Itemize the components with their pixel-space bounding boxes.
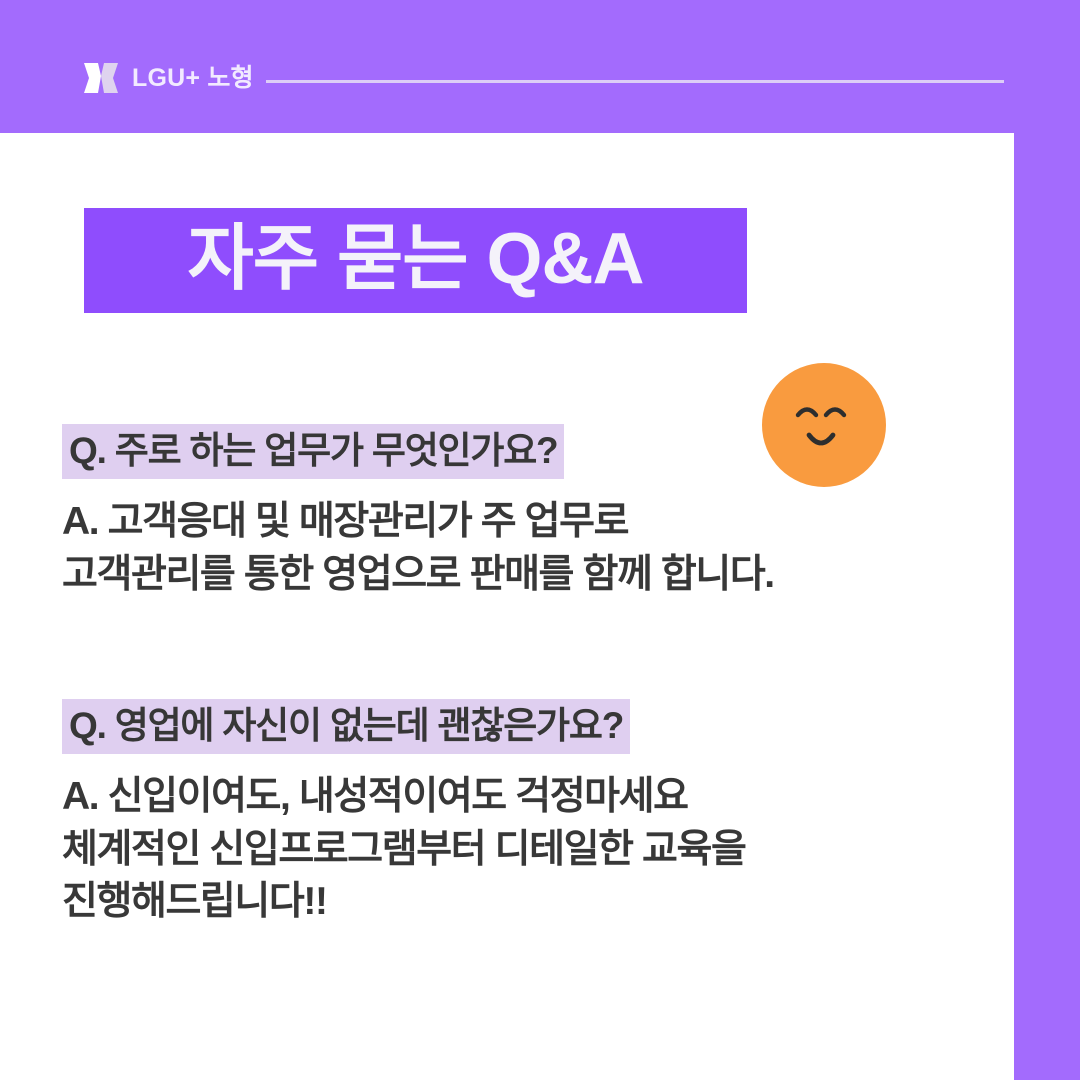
question-row: Q. 주로 하는 업무가 무엇인가요? — [62, 424, 962, 479]
header-divider — [266, 80, 1004, 83]
brand-name: LGU+ 노형 — [132, 66, 254, 91]
question-text: Q. 영업에 자신이 없는데 괜찮은가요? — [62, 699, 630, 754]
qa-card: LGU+ 노형 자주 묻는 Q&A Q. 주로 하는 업무가 무엇인가요? A.… — [0, 0, 1080, 1080]
answer-line: A. 고객응대 및 매장관리가 주 업무로 — [62, 496, 962, 548]
question-row: Q. 영업에 자신이 없는데 괜찮은가요? — [62, 699, 962, 754]
lgu-x-logo-icon — [84, 63, 118, 93]
title-banner: 자주 묻는 Q&A — [84, 208, 747, 313]
question-text: Q. 주로 하는 업무가 무엇인가요? — [62, 424, 564, 479]
brand-lockup: LGU+ 노형 — [84, 58, 254, 98]
purple-right-band — [1014, 0, 1080, 1080]
answer-text: A. 고객응대 및 매장관리가 주 업무로 고객관리를 통한 영업으로 판매를 … — [62, 496, 962, 601]
answer-line: 고객관리를 통한 영업으로 판매를 함께 합니다. — [62, 549, 962, 601]
answer-line: 진행해드립니다!! — [62, 876, 962, 928]
answer-line: 체계적인 신입프로그램부터 디테일한 교육을 — [62, 824, 962, 876]
page-title: 자주 묻는 Q&A — [188, 223, 644, 295]
answer-text: A. 신입이여도, 내성적이여도 걱정마세요 체계적인 신입프로그램부터 디테일… — [62, 771, 962, 928]
qa-block: Q. 주로 하는 업무가 무엇인가요? A. 고객응대 및 매장관리가 주 업무… — [62, 424, 962, 601]
answer-line: A. 신입이여도, 내성적이여도 걱정마세요 — [62, 771, 962, 823]
qa-block: Q. 영업에 자신이 없는데 괜찮은가요? A. 신입이여도, 내성적이여도 걱… — [62, 699, 962, 928]
